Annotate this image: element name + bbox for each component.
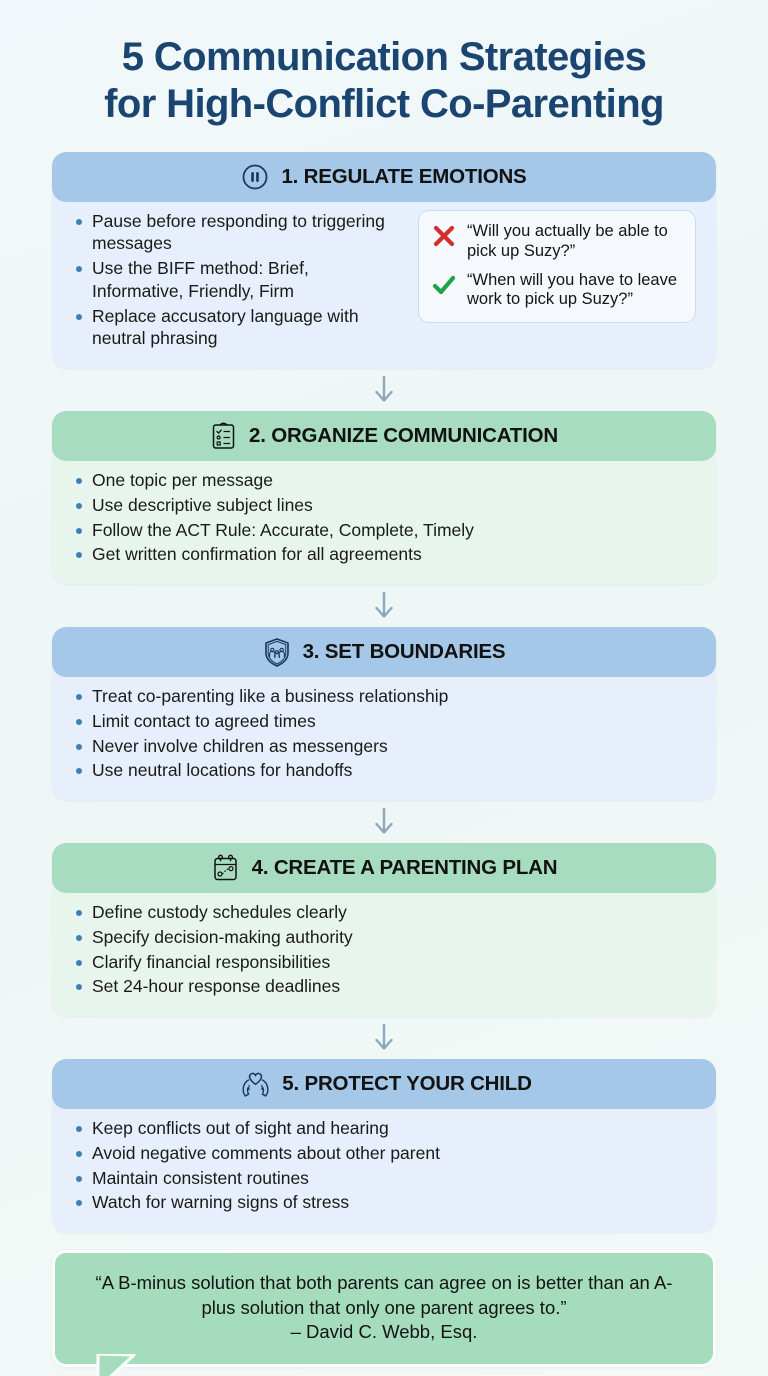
section-heading-1: 1. REGULATE EMOTIONS [281, 165, 526, 189]
arrow-down-icon [373, 1023, 395, 1053]
section-card-3: 3. SET BOUNDARIES Treat co-parenting lik… [52, 627, 716, 800]
list-item: One topic per message [72, 469, 696, 492]
list-item: Keep conflicts out of sight and hearing [72, 1117, 696, 1140]
section-card-5: 5. PROTECT YOUR CHILD Keep conflicts out… [52, 1059, 716, 1232]
list-item: Never involve children as messengers [72, 735, 696, 758]
list-item: Use neutral locations for handoffs [72, 759, 696, 782]
example-good-row: “When will you have to leave work to pic… [431, 271, 683, 311]
arrow-connector-2 [52, 584, 716, 627]
arrow-down-icon [373, 591, 395, 621]
section-bullets-3: Treat co-parenting like a business relat… [72, 685, 696, 782]
arrow-connector-4 [52, 1016, 716, 1059]
section-bullets-4: Define custody schedules clearly Specify… [72, 901, 696, 998]
quote-line-1: “A B-minus solution that both parents ca… [96, 1272, 583, 1293]
example-comparison-box: “Will you actually be able to pick up Su… [418, 210, 696, 324]
title-line-1: 5 Communication Strategies [52, 34, 716, 81]
section-bullets-2: One topic per message Use descriptive su… [72, 469, 696, 566]
clipboard-checklist-icon [210, 421, 237, 451]
arrow-down-icon [373, 375, 395, 405]
list-item: Replace accusatory language with neutral… [72, 305, 404, 351]
page-title: 5 Communication Strategies for High-Conf… [52, 0, 716, 128]
section-body-1: Pause before responding to triggering me… [52, 188, 716, 369]
list-item: Clarify financial responsibilities [72, 951, 696, 974]
list-item: Limit contact to agreed times [72, 710, 696, 733]
check-icon [431, 271, 457, 303]
cross-icon [431, 222, 457, 254]
list-item: Avoid negative comments about other pare… [72, 1142, 696, 1165]
list-item: Use the BIFF method: Brief, Informative,… [72, 257, 404, 303]
section-header-3: 3. SET BOUNDARIES [52, 627, 716, 677]
section-header-5: 5. PROTECT YOUR CHILD [52, 1059, 716, 1109]
section-body-5: Keep conflicts out of sight and hearing … [52, 1095, 716, 1232]
list-item: Treat co-parenting like a business relat… [72, 685, 696, 708]
section-body-2: One topic per message Use descriptive su… [52, 447, 716, 584]
quote-bubble: “A B-minus solution that both parents ca… [52, 1250, 716, 1367]
example-bad-text: “Will you actually be able to pick up Su… [467, 222, 683, 262]
quote-section: “A B-minus solution that both parents ca… [52, 1250, 716, 1367]
arrow-connector-3 [52, 800, 716, 843]
list-item: Maintain consistent routines [72, 1167, 696, 1190]
pause-circle-icon [241, 163, 269, 191]
section-heading-4: 4. CREATE A PARENTING PLAN [252, 856, 558, 880]
list-item: Follow the ACT Rule: Accurate, Complete,… [72, 519, 696, 542]
section-header-4: 4. CREATE A PARENTING PLAN [52, 843, 716, 893]
section-card-4: 4. CREATE A PARENTING PLAN Define custod… [52, 843, 716, 1016]
section-heading-5: 5. PROTECT YOUR CHILD [282, 1072, 531, 1096]
section-card-2: 2. ORGANIZE COMMUNICATION One topic per … [52, 411, 716, 584]
list-item: Get written confirmation for all agreeme… [72, 543, 696, 566]
hands-heart-icon [236, 1069, 270, 1100]
section-header-1: 1. REGULATE EMOTIONS [52, 152, 716, 202]
example-bad-row: “Will you actually be able to pick up Su… [431, 222, 683, 262]
section-heading-3: 3. SET BOUNDARIES [303, 640, 506, 664]
speech-bubble-tail [96, 1354, 182, 1376]
arrow-connector-1 [52, 368, 716, 411]
section-header-2: 2. ORGANIZE COMMUNICATION [52, 411, 716, 461]
section-body-3: Treat co-parenting like a business relat… [52, 663, 716, 800]
list-item: Pause before responding to triggering me… [72, 210, 404, 256]
list-item: Use descriptive subject lines [72, 494, 696, 517]
arrow-down-icon [373, 807, 395, 837]
section-heading-2: 2. ORGANIZE COMMUNICATION [249, 424, 558, 448]
example-good-text: “When will you have to leave work to pic… [467, 271, 683, 311]
title-line-2: for High-Conflict Co-Parenting [52, 81, 716, 128]
section-card-1: 1. REGULATE EMOTIONS Pause before respon… [52, 152, 716, 369]
section-bullets-5: Keep conflicts out of sight and hearing … [72, 1117, 696, 1214]
infographic-page: 5 Communication Strategies for High-Conf… [0, 0, 768, 1376]
list-item: Define custody schedules clearly [72, 901, 696, 924]
section-bullets-1: Pause before responding to triggering me… [72, 210, 404, 353]
list-item: Specify decision-making authority [72, 926, 696, 949]
list-item: Set 24-hour response deadlines [72, 975, 696, 998]
shield-family-icon [263, 637, 291, 668]
quote-attribution: – David C. Webb, Esq. [81, 1320, 687, 1344]
list-item: Watch for warning signs of stress [72, 1191, 696, 1214]
section-body-4: Define custody schedules clearly Specify… [52, 879, 716, 1016]
calendar-route-icon [211, 853, 240, 883]
